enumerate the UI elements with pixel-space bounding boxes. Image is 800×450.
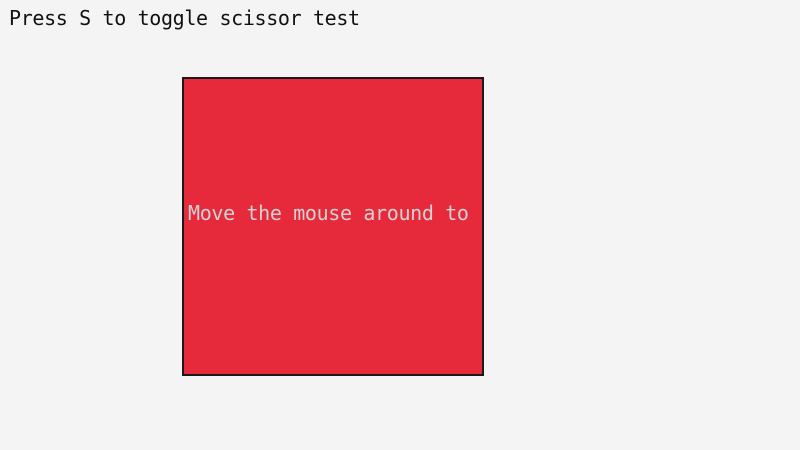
scissor-toggle-hint: Press S to toggle scissor test <box>9 6 360 30</box>
app-canvas: Press S to toggle scissor test Move the … <box>0 0 800 450</box>
scissor-rectangle[interactable]: Move the mouse around to resize the scis… <box>182 77 484 376</box>
scissor-clipped-message: Move the mouse around to resize the scis… <box>188 201 484 225</box>
